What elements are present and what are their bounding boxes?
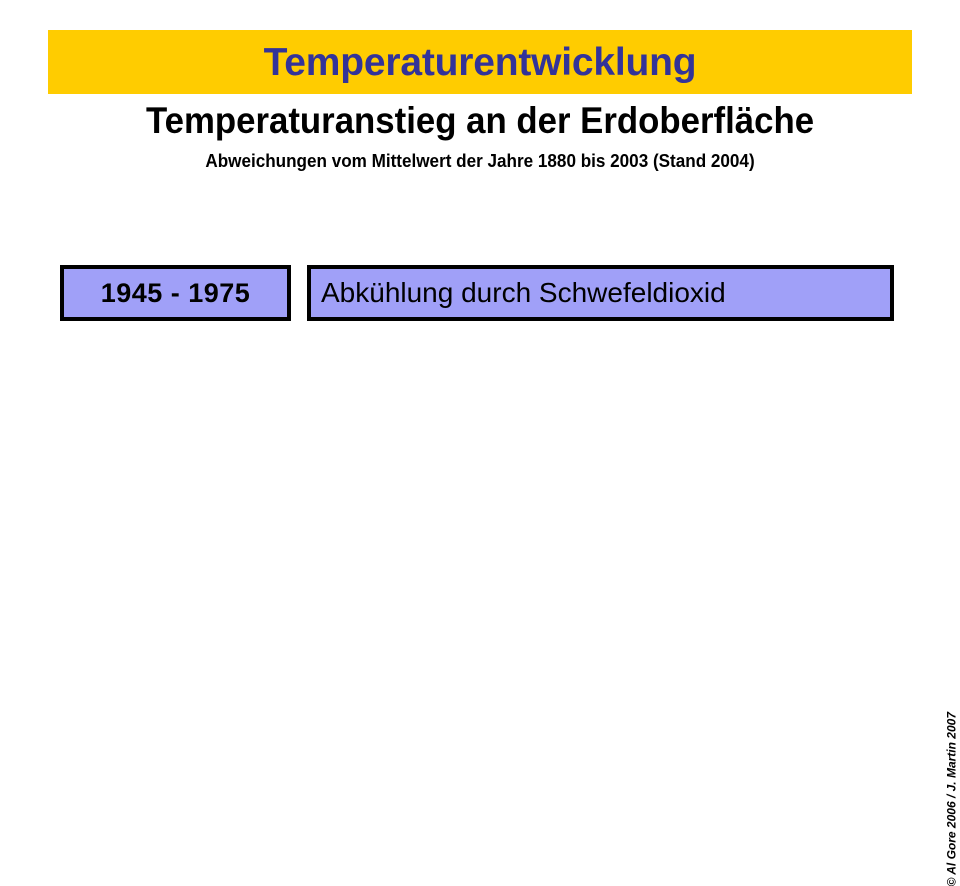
callout-box-period: 1945 - 1975 bbox=[60, 265, 291, 321]
callout-box-cause: Abkühlung durch Schwefeldioxid bbox=[307, 265, 894, 321]
headline: Temperaturanstieg an der Erdoberfläche bbox=[29, 99, 931, 143]
callout-period-label: 1945 - 1975 bbox=[101, 280, 251, 307]
title-banner: Temperaturentwicklung bbox=[48, 30, 912, 94]
callout-cause-label: Abkühlung durch Schwefeldioxid bbox=[321, 279, 726, 307]
headline-block: Temperaturanstieg an der Erdoberfläche A… bbox=[0, 99, 960, 172]
page-title: Temperaturentwicklung bbox=[264, 43, 697, 82]
copyright-credit: © Al Gore 2006 / J. Martin 2007 bbox=[944, 712, 958, 886]
subheadline: Abweichungen vom Mittelwert der Jahre 18… bbox=[24, 150, 936, 172]
slide-canvas: Temperaturentwicklung Temperaturanstieg … bbox=[0, 0, 960, 720]
